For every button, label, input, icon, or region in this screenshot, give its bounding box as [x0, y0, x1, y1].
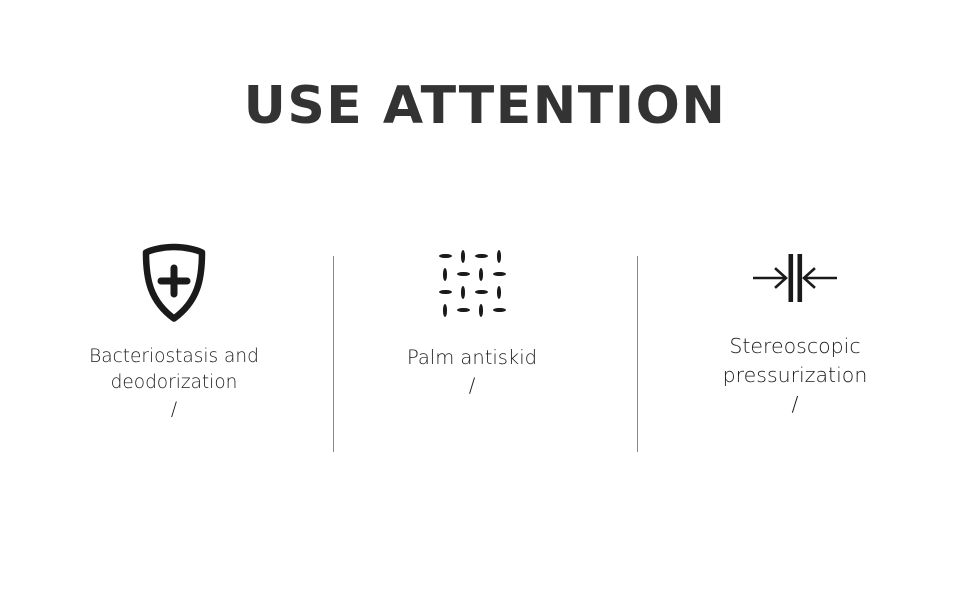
antiskid-dot	[472, 283, 490, 301]
antiskid-dot	[454, 283, 472, 301]
antiskid-dot	[472, 301, 490, 319]
antiskid-dot	[436, 301, 454, 319]
icon-container	[342, 230, 602, 336]
feature-item-palm-antiskid: Palm antiskid /	[342, 230, 602, 470]
feature-item-pressurization: Stereoscopic pressurization /	[665, 230, 925, 470]
antiskid-dot-grid	[436, 247, 508, 319]
icon-container	[665, 230, 925, 330]
feature-row: Bacteriostasis and deodorization /	[0, 230, 970, 470]
antiskid-dot	[472, 247, 490, 265]
antiskid-dot	[454, 301, 472, 319]
feature-label: Palm antiskid /	[342, 344, 602, 399]
antiskid-dot	[436, 247, 454, 265]
feature-item-bacteriostasis: Bacteriostasis and deodorization /	[44, 230, 304, 470]
antiskid-dot	[454, 265, 472, 283]
antiskid-dot	[472, 265, 490, 283]
compression-arrows-icon	[745, 252, 845, 309]
shield-plus-icon	[141, 243, 207, 328]
antiskid-grid-icon	[436, 247, 508, 319]
antiskid-dot	[490, 247, 508, 265]
antiskid-dot	[454, 247, 472, 265]
antiskid-dot	[490, 265, 508, 283]
feature-label: Stereoscopic pressurization /	[665, 332, 925, 419]
antiskid-dot	[436, 265, 454, 283]
antiskid-dot	[490, 301, 508, 319]
antiskid-dot	[436, 283, 454, 301]
icon-container	[44, 230, 304, 340]
feature-label: Bacteriostasis and deodorization /	[44, 344, 304, 423]
page-title: USE ATTENTION	[0, 78, 970, 135]
antiskid-dot	[490, 283, 508, 301]
